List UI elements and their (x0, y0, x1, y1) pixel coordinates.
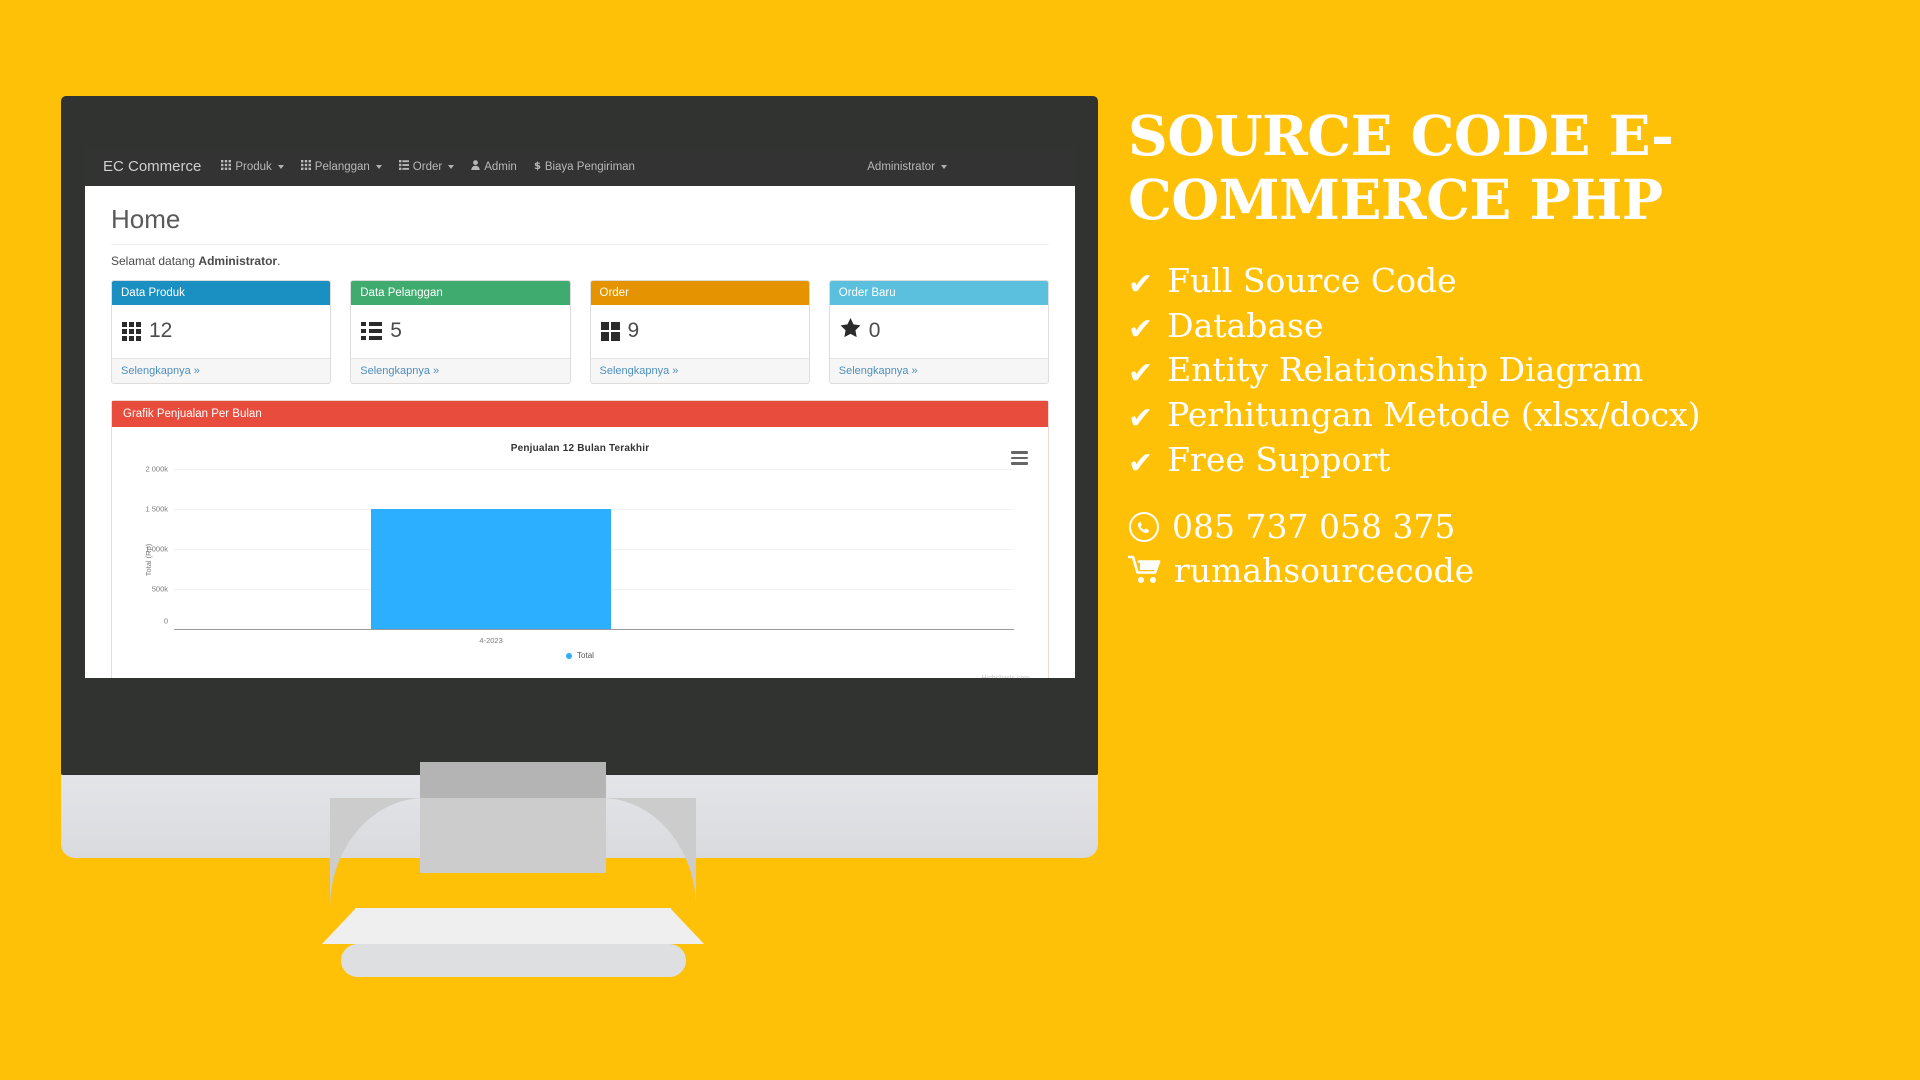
list-item: ✔ Full Source Code (1128, 259, 1868, 304)
legend-marker-icon (566, 653, 572, 659)
page-title: Home (111, 204, 1049, 245)
feature-label: Perhitungan Metode (xlsx/docx) (1167, 393, 1700, 438)
stat-card-link[interactable]: Selengkapnya » (600, 365, 679, 377)
chart-plot-area: 2 000k 1 500k 1 000k 500k (174, 470, 1014, 630)
monitor-stand-foot (341, 944, 686, 977)
feature-label: Entity Relationship Diagram (1167, 348, 1643, 393)
welcome-message: Selamat datang Administrator. (111, 254, 1049, 268)
stat-card-body: 5 (351, 305, 569, 358)
monitor-stand-neck-top (420, 762, 606, 798)
list-item: ✔ Database (1128, 304, 1868, 349)
monitor-stand-base-band (355, 908, 671, 944)
monitor-stand-base-band-left (322, 908, 356, 944)
contact-shop[interactable]: rumahsourcecode (1128, 549, 1868, 593)
check-icon: ✔ (1128, 270, 1153, 300)
monitor-screen: EC Commerce Produk Pelanggan (85, 147, 1075, 678)
stat-cards: Data Produk 12 Selengkapnya » Data Pelan… (111, 280, 1049, 384)
navbar-brand[interactable]: EC Commerce (103, 158, 201, 175)
stat-card-value: 5 (390, 319, 402, 343)
y-tick-label: 0 (164, 617, 168, 626)
stat-card-value: 9 (628, 319, 640, 343)
nav-item-order[interactable]: Order (399, 160, 454, 173)
welcome-prefix: Selamat datang (111, 254, 198, 268)
chart-legend[interactable]: Total (120, 651, 1040, 660)
x-axis-line: 0 (174, 629, 1014, 631)
stat-card-link[interactable]: Selengkapnya » (839, 365, 918, 377)
stat-card-title: Data Pelanggan (351, 281, 569, 305)
stat-card-footer: Selengkapnya » (830, 358, 1048, 383)
stat-card-title: Order Baru (830, 281, 1048, 305)
check-icon: ✔ (1128, 449, 1153, 479)
chevron-down-icon (376, 165, 382, 169)
stat-card-footer: Selengkapnya » (112, 358, 330, 383)
promo-contact: 085 737 058 375 rumahsourcecode (1128, 505, 1868, 592)
promo-title: SOURCE CODE E-COMMERCE PHP (1128, 104, 1868, 233)
feature-label: Full Source Code (1167, 259, 1457, 304)
contact-phone-label: 085 737 058 375 (1172, 505, 1455, 549)
feature-label: Free Support (1167, 438, 1390, 483)
y-axis-label: Total (Rp) (144, 543, 153, 576)
list-item: ✔ Perhitungan Metode (xlsx/docx) (1128, 393, 1868, 438)
monitor-stand-flare-left (330, 798, 425, 908)
stat-card-value: 12 (149, 319, 172, 343)
y-tick-label: 500k (152, 585, 168, 594)
chevron-down-icon (448, 165, 454, 169)
sales-bar-chart: Penjualan 12 Bulan Terakhir 2 000k 1 500… (120, 433, 1040, 678)
stat-card-body: 0 (830, 305, 1048, 358)
nav-item-label: Produk (235, 161, 271, 173)
stat-card-body: 12 (112, 305, 330, 358)
stat-card-data-pelanggan: Data Pelanggan 5 Selengkapnya » (350, 280, 570, 384)
list-item: ✔ Free Support (1128, 438, 1868, 483)
welcome-username: Administrator (198, 254, 277, 268)
nav-item-produk[interactable]: Produk (221, 160, 283, 173)
contact-whatsapp[interactable]: 085 737 058 375 (1128, 505, 1868, 549)
gridline: 2 000k (174, 469, 1014, 470)
monitor-stand-base-band-right (670, 908, 704, 944)
sales-chart-panel-body: Penjualan 12 Bulan Terakhir 2 000k 1 500… (112, 427, 1048, 678)
y-tick-label: 2 000k (145, 465, 168, 474)
stat-card-link[interactable]: Selengkapnya » (121, 365, 200, 377)
nav-item-label: Admin (484, 161, 517, 173)
navbar-links: Produk Pelanggan Order (221, 160, 867, 174)
navbar-user-menu[interactable]: Administrator (867, 161, 947, 173)
whatsapp-icon (1128, 511, 1160, 543)
stat-card-footer: Selengkapnya » (351, 358, 569, 383)
check-icon: ✔ (1128, 315, 1153, 345)
star-icon (840, 318, 861, 344)
page-content: Home Selamat datang Administrator. Data … (85, 186, 1075, 678)
welcome-suffix: . (277, 254, 280, 268)
stat-card-value: 0 (869, 319, 881, 343)
feature-label: Database (1167, 304, 1323, 349)
dollar-icon: $ (534, 160, 541, 174)
bar-total-4-2023[interactable]: 4-2023 (371, 509, 610, 629)
stat-card-order-baru: Order Baru 0 Selengkapnya » (829, 280, 1049, 384)
list-icon (399, 160, 409, 173)
monitor-stand-flare-right (601, 798, 696, 908)
nav-item-label: Biaya Pengiriman (545, 161, 635, 173)
th-icon (301, 160, 311, 173)
th-icon (122, 322, 141, 341)
promo-panel: SOURCE CODE E-COMMERCE PHP ✔ Full Source… (1128, 104, 1868, 592)
legend-item-label: Total (577, 651, 594, 660)
list-icon (361, 322, 382, 340)
list-item: ✔ Entity Relationship Diagram (1128, 348, 1868, 393)
check-icon: ✔ (1128, 404, 1153, 434)
navbar-user-label: Administrator (867, 161, 935, 173)
nav-item-pelanggan[interactable]: Pelanggan (301, 160, 382, 173)
sales-chart-panel-heading: Grafik Penjualan Per Bulan (112, 401, 1048, 427)
th-large-icon (601, 322, 620, 341)
nav-item-biaya-pengiriman[interactable]: $ Biaya Pengiriman (534, 160, 635, 174)
stat-card-title: Data Produk (112, 281, 330, 305)
y-tick-label: 1 500k (145, 505, 168, 514)
x-tick-label: 4-2023 (479, 636, 502, 645)
stat-card-body: 9 (591, 305, 809, 358)
sales-chart-panel: Grafik Penjualan Per Bulan Penjualan 12 … (111, 400, 1049, 678)
nav-item-admin[interactable]: Admin (471, 160, 517, 173)
nav-item-label: Order (413, 161, 442, 173)
chevron-down-icon (941, 165, 947, 169)
contact-shop-label: rumahsourcecode (1174, 549, 1474, 593)
stat-card-footer: Selengkapnya » (591, 358, 809, 383)
hamburger-menu-icon[interactable] (1011, 451, 1028, 465)
chart-title: Penjualan 12 Bulan Terakhir (120, 443, 1040, 454)
shopping-cart-icon (1128, 555, 1162, 585)
check-icon: ✔ (1128, 359, 1153, 389)
monitor-stand-neck (420, 798, 606, 873)
app-navbar: EC Commerce Produk Pelanggan (85, 147, 1075, 186)
stat-card-link[interactable]: Selengkapnya » (360, 365, 439, 377)
stat-card-order: Order 9 Selengkapnya » (590, 280, 810, 384)
user-icon (471, 160, 480, 173)
chart-credit[interactable]: Highcharts.com (981, 675, 1030, 678)
th-icon (221, 160, 231, 173)
promo-feature-list: ✔ Full Source Code ✔ Database ✔ Entity R… (1128, 259, 1868, 483)
stat-card-data-produk: Data Produk 12 Selengkapnya » (111, 280, 331, 384)
chevron-down-icon (278, 165, 284, 169)
svg-text:$: $ (534, 161, 541, 171)
desktop-monitor-mockup: EC Commerce Produk Pelanggan (61, 96, 1098, 775)
stat-card-title: Order (591, 281, 809, 305)
nav-item-label: Pelanggan (315, 161, 370, 173)
